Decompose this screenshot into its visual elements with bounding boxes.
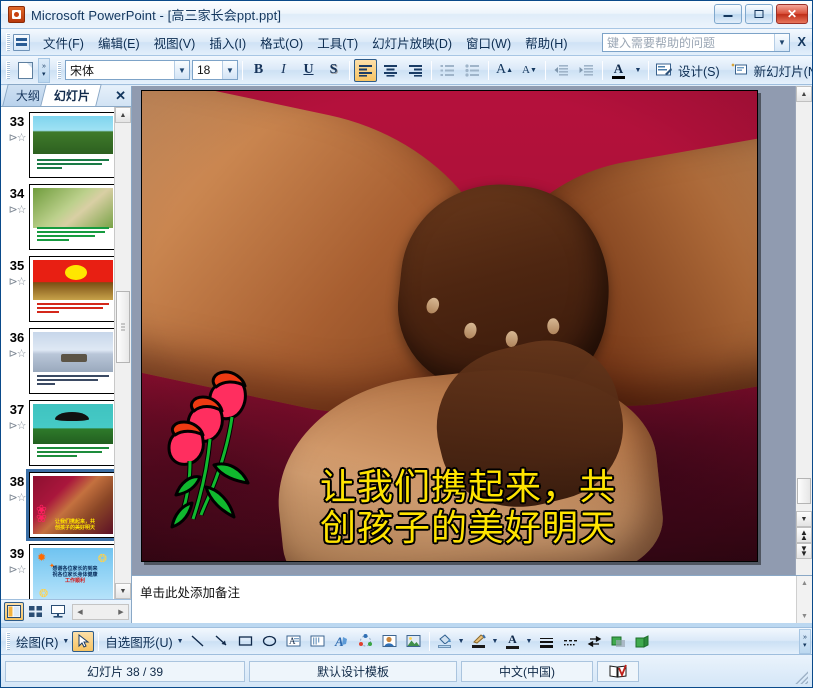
text-shadow-button[interactable]: S: [322, 59, 345, 82]
select-objects-button[interactable]: [72, 631, 94, 652]
align-left-icon: [358, 64, 373, 77]
slide-headline[interactable]: 让我们携起来，共 创孩子的美好明天: [320, 468, 751, 549]
line-button[interactable]: [187, 631, 209, 652]
slide-canvas[interactable]: 让我们携起来，共 创孩子的美好明天 ▲ ▼ ▲▲ ▼▼: [132, 86, 812, 575]
tulip-clipart[interactable]: [166, 365, 264, 535]
maximize-button[interactable]: [745, 4, 773, 24]
new-slide-button[interactable]: 新幻灯片(N): [727, 59, 813, 81]
align-center-icon: [383, 64, 398, 77]
shadow-style-button[interactable]: [607, 631, 629, 652]
ask-a-question-box[interactable]: 键入需要帮助的问题 ▼: [602, 33, 790, 52]
new-slide-icon: [731, 63, 748, 77]
toolbar-grip-2[interactable]: [57, 61, 61, 79]
previous-next-slide-buttons: ▼ ▲▲ ▼▼: [796, 511, 812, 559]
scrollbar-thumb[interactable]: [797, 478, 811, 504]
toolbar-separator: [429, 632, 430, 651]
close-document-icon[interactable]: X: [797, 34, 806, 49]
text-box-icon: A: [286, 634, 301, 648]
autoshapes-menu-label[interactable]: 自选图形(U): [102, 632, 175, 651]
tab-slides[interactable]: 幻灯片: [40, 84, 102, 106]
list-item[interactable]: 34 ⊳☆: [1, 184, 113, 250]
diagram-icon: [358, 634, 373, 648]
spell-check-status[interactable]: [597, 661, 639, 682]
thumbnail-meta: 33 ⊳☆: [5, 112, 29, 144]
close-button[interactable]: ✕: [776, 4, 808, 24]
numbered-list-icon: [440, 64, 455, 77]
design-template-indicator[interactable]: 默认设计模板: [249, 661, 457, 682]
notes-pane[interactable]: 单击此处添加备注 ▲ ▼: [132, 575, 812, 623]
design-label: 设计(S): [675, 61, 723, 80]
line-icon: [190, 634, 205, 648]
list-item[interactable]: 33 ⊳☆: [1, 112, 113, 178]
bold-button[interactable]: B: [247, 59, 270, 82]
scroll-down-button[interactable]: ▼: [796, 511, 812, 527]
slides-outline-pane: 大纲 幻灯片 ✕ 33 ⊳☆: [1, 86, 132, 623]
thumbnail-scroll-content: 33 ⊳☆ 34 ⊳☆: [1, 107, 113, 599]
tulip-flowers-icon: [166, 365, 264, 535]
thumbnail-meta: 37 ⊳☆: [5, 400, 29, 432]
promote-icon: [554, 64, 569, 77]
notes-scrollbar[interactable]: ▲ ▼: [796, 576, 812, 623]
tab-slides-label: 幻灯片: [54, 87, 90, 104]
animation-star-icon: ⊳☆: [5, 275, 29, 288]
line-color-icon: [472, 634, 486, 644]
thumbnail-meta: 36 ⊳☆: [5, 328, 29, 360]
menu-window[interactable]: 窗口(W): [459, 29, 518, 56]
toolbar-grip-1[interactable]: [6, 61, 10, 79]
menu-bar: 文件(F) 编辑(E) 视图(V) 插入(I) 格式(O) 工具(T) 幻灯片放…: [1, 29, 812, 56]
dash-style-button[interactable]: [559, 631, 581, 652]
slide-number: 38: [5, 474, 29, 489]
toolbar-separator: [545, 61, 546, 80]
headline-line-1: 让我们携起来，共: [320, 467, 616, 508]
new-document-button[interactable]: [14, 59, 37, 82]
chevron-down-icon[interactable]: ▼: [492, 638, 499, 645]
arrow-button[interactable]: [211, 631, 233, 652]
increase-font-size-button[interactable]: A▲: [493, 59, 516, 82]
toolbar-separator: [349, 61, 350, 80]
menu-tools[interactable]: 工具(T): [310, 29, 365, 56]
drawing-toolbar: 绘图(R) ▼ 自选图形(U) ▼ A A: [1, 627, 812, 654]
font-color-icon: A: [614, 62, 623, 75]
slide-number: 34: [5, 186, 29, 201]
pane-tabs: 大纲 幻灯片 ✕: [1, 86, 131, 106]
insert-picture-icon: [406, 634, 421, 648]
align-left-button[interactable]: [354, 59, 377, 82]
line-style-icon: [539, 635, 554, 648]
resize-grip[interactable]: [794, 670, 808, 684]
list-item[interactable]: 37 ⊳☆: [1, 400, 113, 466]
vertical-text-box-icon: [310, 634, 325, 648]
font-name-combo[interactable]: 宋体 ▼: [65, 60, 190, 80]
line-style-button[interactable]: [535, 631, 557, 652]
demote-button[interactable]: [575, 59, 598, 82]
thumbnail-frame[interactable]: [29, 328, 117, 394]
underline-icon: U: [303, 62, 313, 78]
spell-check-icon: [609, 664, 627, 678]
arrow-icon: [214, 634, 229, 648]
align-center-button[interactable]: [379, 59, 402, 82]
document-menu-icon[interactable]: [13, 34, 30, 51]
previous-slide-button[interactable]: ▲▲: [796, 527, 812, 543]
chevron-down-icon[interactable]: ▼: [525, 638, 532, 645]
thumbnail-meta: 34 ⊳☆: [5, 184, 29, 216]
toolbar-separator: [488, 61, 489, 80]
headline-line-2: 创孩子的美好明天: [320, 509, 751, 549]
toolbar-separator: [431, 61, 432, 80]
animation-star-icon: ⊳☆: [5, 419, 29, 432]
menu-slideshow[interactable]: 幻灯片放映(D): [365, 29, 459, 56]
font-size-combo[interactable]: 18 ▼: [192, 60, 238, 80]
help-placeholder: 键入需要帮助的问题: [603, 34, 715, 51]
slide-number: 36: [5, 330, 29, 345]
list-item[interactable]: 36 ⊳☆: [1, 328, 113, 394]
thumbnail-frame[interactable]: [29, 256, 117, 322]
drawbar-grip[interactable]: [6, 632, 10, 650]
scroll-right-button[interactable]: ▶: [114, 608, 128, 616]
promote-button[interactable]: [550, 59, 573, 82]
menu-help[interactable]: 帮助(H): [518, 29, 574, 56]
line-color-button[interactable]: [468, 631, 490, 652]
menu-view[interactable]: 视图(V): [147, 29, 203, 56]
oval-icon: [262, 634, 277, 648]
scroll-down-button[interactable]: ▼: [797, 609, 812, 623]
new-document-icon: [18, 62, 33, 79]
menu-edit[interactable]: 编辑(E): [91, 29, 147, 56]
chevron-down-icon[interactable]: ▼: [62, 638, 69, 645]
slide-editing-pane: 让我们携起来，共 创孩子的美好明天 ▲ ▼ ▲▲ ▼▼ 单击此处添加备注: [132, 86, 812, 623]
new-slide-label: 新幻灯片(N): [751, 61, 813, 80]
thumbnail-frame[interactable]: [29, 112, 117, 178]
list-item[interactable]: 35 ⊳☆: [1, 256, 113, 322]
thumbnail-scrollbar[interactable]: ▲ ▼: [114, 107, 131, 599]
thumbnail-image: ✹ ✦ ❂ ❂ 感谢各位家长的到来祝各位家长身体健康工作顺利: [33, 548, 113, 599]
design-button[interactable]: 设计(S): [652, 59, 727, 81]
toolbar-separator: [648, 61, 649, 80]
thumbnail-meta: 35 ⊳☆: [5, 256, 29, 288]
status-bar: 幻灯片 38 / 39 默认设计模板 中文(中国): [1, 654, 812, 687]
toolbar-separator: [98, 632, 99, 651]
thumbnail-meta: 39 ⊳☆: [5, 544, 29, 576]
menu-insert[interactable]: 插入(I): [202, 29, 253, 56]
slide-number: 39: [5, 546, 29, 561]
toolbar-separator: [602, 61, 603, 80]
language-indicator[interactable]: 中文(中国): [461, 661, 593, 682]
view-normal[interactable]: [4, 602, 24, 621]
notes-placeholder[interactable]: 单击此处添加备注: [132, 576, 812, 607]
powerpoint-icon: [8, 6, 25, 23]
scrollbar-thumb[interactable]: [116, 291, 130, 363]
formatting-toolbar: »▾ 宋体 ▼ 18 ▼ B I U S: [1, 56, 812, 85]
title-bar: Microsoft PowerPoint - [高三家长会ppt.ppt] ✕: [1, 1, 812, 29]
thumbnail-caption: 让我们携起来，共创孩子的美好明天: [55, 519, 110, 531]
view-slideshow[interactable]: [48, 602, 68, 621]
close-pane-icon[interactable]: ✕: [115, 88, 126, 104]
increase-font-icon: A: [496, 62, 506, 78]
slide-number: 37: [5, 402, 29, 417]
tab-outline-label: 大纲: [16, 87, 40, 104]
3d-style-button[interactable]: [631, 631, 653, 652]
arrow-style-button[interactable]: [583, 631, 605, 652]
thumbnail-image: [33, 116, 113, 174]
font-color-button[interactable]: A: [501, 631, 523, 652]
view-buttons-bar: ◀ ▶: [1, 599, 131, 623]
menu-grip[interactable]: [6, 33, 10, 51]
view-slide-sorter[interactable]: [26, 602, 46, 621]
animation-star-icon: ⊳☆: [5, 347, 29, 360]
align-right-icon: [408, 64, 423, 77]
demote-icon: [579, 64, 594, 77]
dash-style-icon: [563, 635, 578, 648]
thumbnail-image: [33, 188, 113, 246]
clip-art-button[interactable]: [379, 631, 401, 652]
thumbnail-caption: 感谢各位家长的到来祝各位家长身体健康工作顺利: [43, 566, 107, 584]
thumbnail-image: [33, 404, 113, 462]
wordart-icon: A: [334, 634, 349, 648]
thumbnail-image: [33, 332, 113, 390]
thumbnail-frame[interactable]: ✹ ✦ ❂ ❂ 感谢各位家长的到来祝各位家长身体健康工作顺利: [29, 544, 117, 599]
slide-indicator: 幻灯片 38 / 39: [5, 661, 245, 682]
menu-file[interactable]: 文件(F): [36, 29, 91, 56]
chevron-down-icon[interactable]: ▼: [174, 61, 189, 79]
font-size-value: 18: [193, 63, 214, 77]
tulip-icon: ❀❀: [36, 506, 47, 522]
text-box-button[interactable]: A: [283, 631, 305, 652]
thumbnail-frame[interactable]: [29, 184, 117, 250]
font-color-button[interactable]: A: [607, 59, 630, 82]
italic-button[interactable]: I: [272, 59, 295, 82]
draw-menu-label[interactable]: 绘图(R): [13, 632, 61, 651]
menu-format[interactable]: 格式(O): [253, 29, 310, 56]
minimize-button[interactable]: [714, 4, 742, 24]
slideshow-icon: [51, 605, 65, 618]
bulleted-list-icon: [465, 64, 480, 77]
select-arrow-icon: [77, 634, 90, 648]
numbering-button[interactable]: [436, 59, 459, 82]
font-color-icon: A: [508, 633, 517, 645]
fill-color-icon: [438, 634, 452, 644]
toolbar-overflow-1[interactable]: »▾: [38, 58, 50, 83]
list-item[interactable]: 38 ⊳☆ ❀❀ 让我们携起来，共创孩子的美好明天: [1, 472, 113, 538]
scroll-up-button[interactable]: ▲: [115, 107, 131, 123]
chevron-down-icon[interactable]: ▼: [458, 638, 465, 645]
scroll-down-button[interactable]: ▼: [115, 583, 131, 599]
slide-thumbnail-list: 33 ⊳☆ 34 ⊳☆: [1, 106, 131, 599]
powerpoint-window: Microsoft PowerPoint - [高三家长会ppt.ppt] ✕ …: [0, 0, 813, 688]
drawbar-overflow[interactable]: »▾: [799, 629, 811, 654]
animation-star-icon: ⊳☆: [5, 563, 29, 576]
chevron-down-icon[interactable]: ▼: [222, 61, 237, 79]
animation-star-icon: ⊳☆: [5, 203, 29, 216]
normal-view-icon: [7, 605, 21, 618]
current-slide[interactable]: 让我们携起来，共 创孩子的美好明天: [141, 90, 758, 562]
scroll-up-button[interactable]: ▲: [796, 86, 812, 102]
decrease-font-size-button[interactable]: A▼: [518, 59, 541, 82]
font-name-value: 宋体: [66, 62, 98, 79]
toolbar-separator: [242, 61, 243, 80]
chevron-down-icon[interactable]: ▼: [177, 638, 184, 645]
slide-sorter-icon: [29, 605, 43, 618]
animation-star-icon: ⊳☆: [5, 131, 29, 144]
window-controls: ✕: [714, 4, 808, 24]
thumbnail-frame[interactable]: [29, 400, 117, 466]
oval-button[interactable]: [259, 631, 281, 652]
thumbnail-image: [33, 260, 113, 318]
thumbnail-hscrollbar[interactable]: ◀ ▶: [72, 604, 129, 620]
thumbnail-frame[interactable]: ❀❀ 让我们携起来，共创孩子的美好明天: [29, 472, 117, 538]
slide-number: 33: [5, 114, 29, 129]
animation-star-icon: ⊳☆: [5, 491, 29, 504]
align-right-button[interactable]: [404, 59, 427, 82]
bullets-button[interactable]: [461, 59, 484, 82]
window-title: Microsoft PowerPoint - [高三家长会ppt.ppt]: [31, 5, 281, 24]
thumbnail-meta: 38 ⊳☆: [5, 472, 29, 504]
shadow-icon: S: [330, 62, 338, 78]
thumbnail-image: ❀❀ 让我们携起来，共创孩子的美好明天: [33, 476, 113, 534]
fill-color-button[interactable]: [434, 631, 456, 652]
slide-number: 35: [5, 258, 29, 273]
main-area: 大纲 幻灯片 ✕ 33 ⊳☆: [1, 86, 812, 623]
underline-button[interactable]: U: [297, 59, 320, 82]
next-slide-button[interactable]: ▼▼: [796, 543, 812, 559]
slide-scrollbar[interactable]: ▲ ▼ ▲▲ ▼▼: [795, 86, 812, 575]
scroll-up-button[interactable]: ▲: [797, 576, 812, 590]
italic-icon: I: [281, 62, 286, 78]
scroll-left-button[interactable]: ◀: [73, 608, 87, 616]
arrow-style-icon: [587, 635, 602, 648]
rectangle-icon: [238, 634, 253, 648]
bold-icon: B: [254, 62, 263, 78]
insert-picture-button[interactable]: [403, 631, 425, 652]
wordart-button[interactable]: A: [331, 631, 353, 652]
chevron-down-icon[interactable]: ▼: [774, 34, 789, 51]
clip-art-icon: [382, 634, 397, 648]
vertical-text-box-button[interactable]: [307, 631, 329, 652]
shadow-style-icon: [611, 635, 626, 648]
3d-style-icon: [635, 635, 650, 648]
list-item[interactable]: 39 ⊳☆ ✹ ✦ ❂ ❂ 感谢各位家长的到来祝各位家长身体健康工作顺利: [1, 544, 113, 599]
decrease-font-icon: A: [522, 64, 530, 76]
rectangle-button[interactable]: [235, 631, 257, 652]
font-color-dropdown[interactable]: ▼: [632, 59, 644, 82]
design-icon: [656, 63, 672, 77]
diagram-button[interactable]: [355, 631, 377, 652]
